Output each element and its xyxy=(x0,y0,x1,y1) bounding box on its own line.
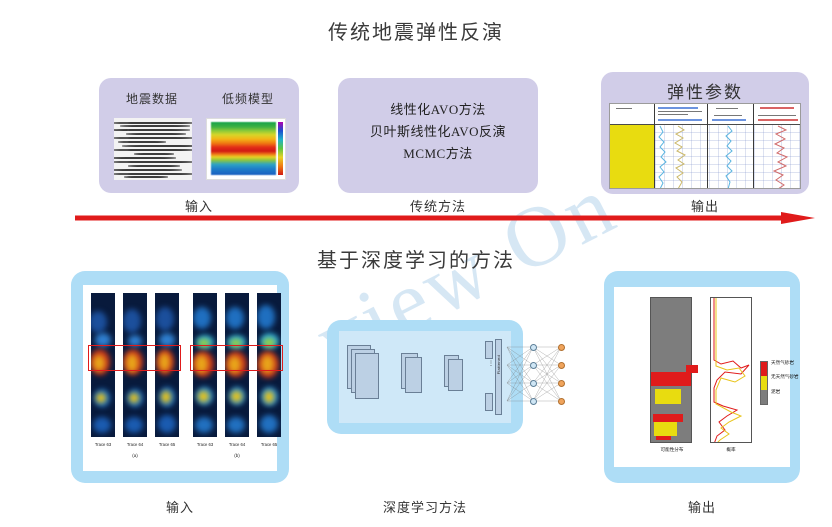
subplot-label-a: (a) xyxy=(125,453,145,458)
highlight-box-b xyxy=(190,345,283,371)
method-line-1: 线性化AVO方法 xyxy=(338,99,538,118)
trace-label-5: Trace 65 xyxy=(254,442,284,447)
axis-label-distribution: 可能性分布 xyxy=(644,447,700,453)
low-frequency-model-label: 低频模型 xyxy=(203,90,293,107)
spectrogram-grid: Trace 63 Trace 64 Trace 65 Trace 63 Trac… xyxy=(83,285,277,471)
traditional-output-card: 弹性参数 xyxy=(601,72,809,194)
cnn-architecture-diagram: ⋮ Flattened xyxy=(339,331,511,423)
seismic-data-label: 地震数据 xyxy=(105,90,199,107)
deep-output-card: 天然气砂岩 无天然气砂岩 泥岩 可能性分布 概率 xyxy=(604,271,800,483)
trace-label-1: Trace 64 xyxy=(120,442,150,447)
trace-label-4: Trace 64 xyxy=(222,442,252,447)
probability-column xyxy=(710,297,752,443)
flatten-label: Flattened xyxy=(496,355,501,374)
figure-canvas: view On 传统地震弹性反演 地震数据 低频模型 线性化AVO方法 贝叶斯线… xyxy=(0,0,832,527)
legend-label-nongas-sandstone: 无天然气砂岩 xyxy=(771,374,799,379)
axis-label-probability: 概率 xyxy=(708,447,754,453)
low-frequency-model-image xyxy=(206,118,286,180)
trace-label-0: Trace 63 xyxy=(88,442,118,447)
flatten-dots: ⋮ xyxy=(488,362,494,366)
elastic-parameters-label: 弹性参数 xyxy=(601,78,809,103)
trace-label-3: Trace 63 xyxy=(190,442,220,447)
legend-label-mudstone: 泥岩 xyxy=(771,389,780,394)
legend-label-gas-sandstone: 天然气砂岩 xyxy=(771,360,794,365)
subplot-label-b: (b) xyxy=(227,453,247,458)
section-title-traditional: 传统地震弹性反演 xyxy=(0,16,832,45)
section-title-deep-learning: 基于深度学习的方法 xyxy=(0,244,832,273)
method-line-3: MCMC方法 xyxy=(338,143,538,162)
lithology-result-panel: 天然气砂岩 无天然气砂岩 泥岩 可能性分布 概率 xyxy=(614,287,790,467)
well-log-curves xyxy=(610,104,801,189)
highlight-box-a xyxy=(88,345,181,371)
legend-color-bar xyxy=(760,361,768,405)
flow-arrow-icon xyxy=(75,212,815,224)
stage-label-output-2: 输出 xyxy=(604,497,800,516)
fully-connected-edges xyxy=(505,337,585,417)
well-log-display xyxy=(609,103,801,189)
stage-label-input-2: 输入 xyxy=(71,497,289,516)
traditional-method-card: 线性化AVO方法 贝叶斯线性化AVO反演 MCMC方法 xyxy=(338,78,538,193)
deep-method-card: ⋮ Flattened xyxy=(327,320,523,434)
traditional-input-card: 地震数据 低频模型 xyxy=(99,78,299,193)
deep-input-card: Trace 63 Trace 64 Trace 65 Trace 63 Trac… xyxy=(71,271,289,483)
trace-label-2: Trace 65 xyxy=(152,442,182,447)
seismic-section-image xyxy=(114,118,192,180)
method-line-2: 贝叶斯线性化AVO反演 xyxy=(338,121,538,140)
stage-label-method-2: 深度学习方法 xyxy=(327,497,523,516)
